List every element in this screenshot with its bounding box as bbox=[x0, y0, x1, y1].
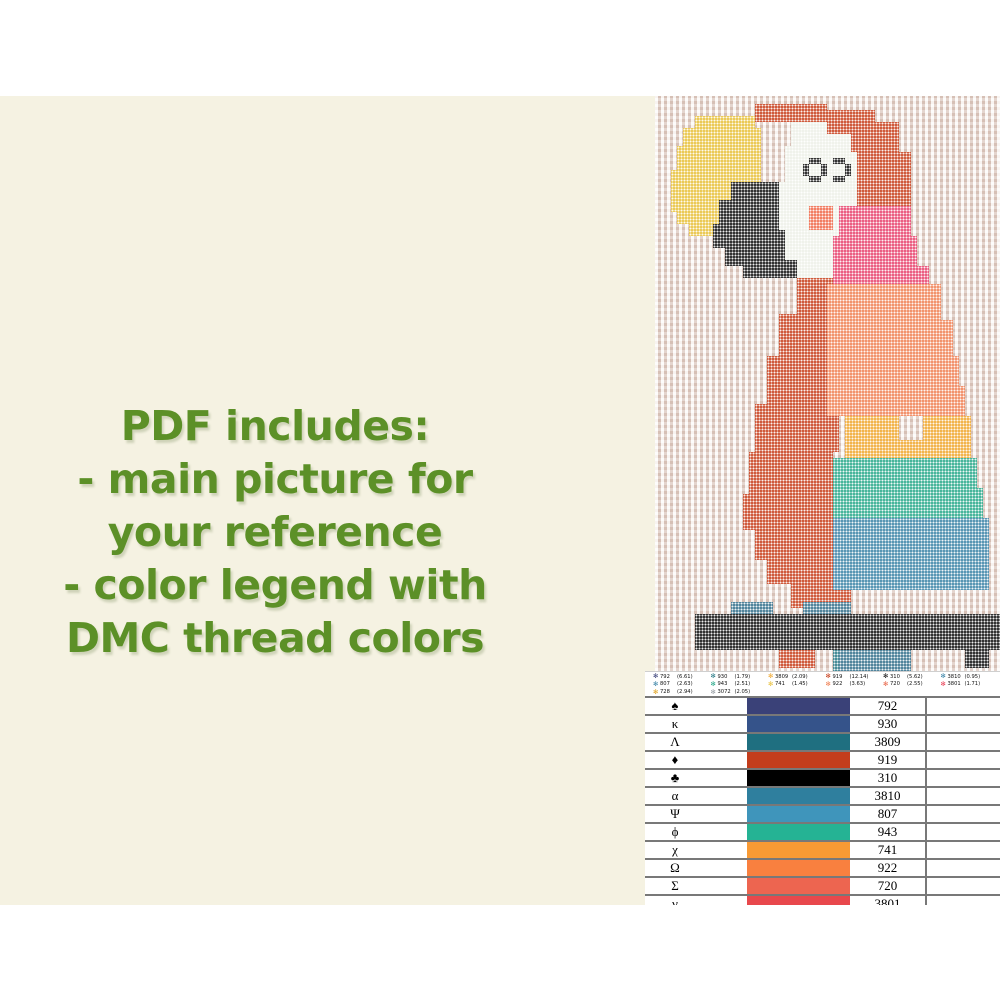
row-spacer bbox=[705, 769, 747, 787]
row-overflow-cell bbox=[928, 697, 1000, 715]
table-row: α3810 bbox=[645, 787, 1000, 805]
row-color-swatch bbox=[747, 895, 850, 905]
stitch-block bbox=[863, 650, 911, 671]
legend-summary-entry: ✻3801(1.71) bbox=[941, 681, 991, 689]
legend-summary-group: ✻792(6.61)✻807(2.63)✻728(2.94) bbox=[653, 673, 703, 696]
row-symbol: ♠ bbox=[645, 697, 705, 715]
row-color-swatch bbox=[747, 715, 850, 733]
legend-summary-entry: ✻930(1.79) bbox=[711, 673, 761, 681]
row-overflow-cell bbox=[928, 823, 1000, 841]
row-color-swatch bbox=[747, 859, 850, 877]
stitch-block bbox=[845, 164, 851, 176]
legend-summary-entry: ✻720(2.55) bbox=[883, 681, 933, 689]
legend-summary-entry: ✻3809(2.09) bbox=[768, 673, 818, 681]
legend-summary-entry: ✻310(5.62) bbox=[883, 673, 933, 681]
promo-line-1: PDF includes: bbox=[40, 400, 510, 453]
stitch-block bbox=[851, 122, 899, 152]
row-overflow-cell bbox=[928, 769, 1000, 787]
table-row: ♠792 bbox=[645, 697, 1000, 715]
row-spacer bbox=[705, 697, 747, 715]
legend-symbol-icon: ✻ bbox=[653, 689, 660, 696]
legend-summary-entry: ✻3810(0.95) bbox=[941, 673, 991, 681]
row-symbol: κ bbox=[645, 715, 705, 733]
row-color-swatch bbox=[747, 841, 850, 859]
listing-page: PDF includes: - main picture for your re… bbox=[0, 0, 1000, 1000]
legend-summary-entry: ✻922(3.63) bbox=[826, 681, 876, 689]
row-overflow-cell bbox=[928, 895, 1000, 905]
row-overflow-cell bbox=[928, 859, 1000, 877]
row-symbol: ♣ bbox=[645, 769, 705, 787]
stitch-block bbox=[827, 284, 941, 320]
cross-stitch-preview-image bbox=[655, 96, 1000, 671]
stitch-block bbox=[833, 176, 845, 182]
branch-tip bbox=[965, 650, 989, 668]
row-spacer bbox=[705, 715, 747, 733]
legend-symbol-icon: ✻ bbox=[941, 681, 948, 688]
legend-percent: (2.09) bbox=[792, 674, 818, 681]
stitch-block bbox=[821, 164, 827, 176]
stitch-pixel-grid bbox=[655, 96, 1000, 671]
stitch-block bbox=[743, 494, 833, 530]
row-symbol: Ψ bbox=[645, 805, 705, 823]
stitch-block bbox=[755, 104, 827, 122]
legend-percent: (1.71) bbox=[965, 681, 991, 688]
legend-summary-entry: ✻919(12.14) bbox=[826, 673, 876, 681]
legend-dmc-code: 3072 bbox=[718, 689, 735, 696]
stitch-block bbox=[779, 650, 815, 668]
legend-symbol-icon: ✻ bbox=[768, 681, 775, 688]
row-dmc-code: 3809 bbox=[850, 733, 926, 751]
legend-percent: (6.61) bbox=[677, 674, 703, 681]
row-color-swatch bbox=[747, 787, 850, 805]
dmc-thread-color-table: ♠792κ930Λ3809♦919♣310α3810Ψ807ϕ943χ741Ω9… bbox=[645, 696, 1000, 905]
row-symbol: α bbox=[645, 787, 705, 805]
stitch-block bbox=[743, 266, 797, 278]
stitch-block bbox=[839, 206, 911, 236]
row-dmc-code: 3801 bbox=[850, 895, 926, 905]
row-symbol: γ bbox=[645, 895, 705, 905]
legend-percent: (12.14) bbox=[850, 674, 876, 681]
legend-percent: (0.95) bbox=[965, 674, 991, 681]
table-row: χ741 bbox=[645, 841, 1000, 859]
stitch-block bbox=[827, 320, 953, 356]
legend-dmc-code: 792 bbox=[660, 674, 677, 681]
legend-percent: (2.94) bbox=[677, 689, 703, 696]
table-row: γ3801 bbox=[645, 895, 1000, 905]
stitch-block bbox=[755, 530, 839, 560]
legend-dmc-code: 741 bbox=[775, 681, 792, 688]
row-dmc-code: 3810 bbox=[850, 787, 926, 805]
color-legend-panel: ✻792(6.61)✻807(2.63)✻728(2.94)✻930(1.79)… bbox=[645, 671, 1000, 905]
stitch-block bbox=[809, 176, 821, 182]
row-overflow-cell bbox=[928, 877, 1000, 895]
row-dmc-code: 922 bbox=[850, 859, 926, 877]
legend-percent: (1.79) bbox=[735, 674, 761, 681]
row-spacer bbox=[705, 841, 747, 859]
legend-summary-entry: ✻741(1.45) bbox=[768, 681, 818, 689]
row-overflow-cell bbox=[928, 787, 1000, 805]
legend-summary-group: ✻3809(2.09)✻741(1.45) bbox=[768, 673, 818, 689]
legend-dmc-code: 3809 bbox=[775, 674, 792, 681]
row-dmc-code: 919 bbox=[850, 751, 926, 769]
legend-dmc-code: 919 bbox=[833, 674, 850, 681]
stitch-block bbox=[833, 488, 983, 518]
row-dmc-code: 741 bbox=[850, 841, 926, 859]
legend-summary-group: ✻919(12.14)✻922(3.63) bbox=[826, 673, 876, 689]
stitch-block bbox=[833, 554, 989, 590]
legend-dmc-code: 728 bbox=[660, 689, 677, 696]
legend-dmc-code: 3810 bbox=[948, 674, 965, 681]
promo-text-block: PDF includes: - main picture for your re… bbox=[40, 400, 510, 665]
legend-percent: (2.55) bbox=[907, 681, 933, 688]
row-color-swatch bbox=[747, 769, 850, 787]
legend-dmc-code: 930 bbox=[718, 674, 735, 681]
stitch-block bbox=[809, 158, 821, 164]
row-dmc-code: 792 bbox=[850, 697, 926, 715]
legend-summary-group: ✻930(1.79)✻943(2.51)✻3072(2.05) bbox=[711, 673, 761, 696]
row-dmc-code: 807 bbox=[850, 805, 926, 823]
row-spacer bbox=[705, 805, 747, 823]
stitch-block bbox=[809, 206, 833, 230]
stitch-block bbox=[827, 386, 965, 416]
legend-percent: (3.63) bbox=[850, 681, 876, 688]
legend-summary-entry: ✻807(2.63) bbox=[653, 681, 703, 689]
table-row: Ω922 bbox=[645, 859, 1000, 877]
promo-line-5: DMC thread colors bbox=[40, 612, 510, 665]
legend-percent: (5.62) bbox=[907, 674, 933, 681]
legend-summary-entry: ✻728(2.94) bbox=[653, 689, 703, 697]
table-row: Σ720 bbox=[645, 877, 1000, 895]
row-spacer bbox=[705, 859, 747, 877]
legend-dmc-code: 943 bbox=[718, 681, 735, 688]
branch-perch bbox=[695, 614, 1000, 650]
row-overflow-cell bbox=[928, 733, 1000, 751]
row-symbol: Σ bbox=[645, 877, 705, 895]
promo-line-4: - color legend with bbox=[40, 559, 510, 612]
legend-percent: (2.63) bbox=[677, 681, 703, 688]
stitch-block bbox=[845, 416, 899, 440]
legend-dmc-code: 3801 bbox=[948, 681, 965, 688]
legend-summary-entry: ✻792(6.61) bbox=[653, 673, 703, 681]
stitch-block bbox=[833, 266, 929, 284]
stitch-block bbox=[695, 116, 755, 128]
stitch-block bbox=[833, 518, 989, 554]
legend-symbol-icon: ✻ bbox=[883, 681, 890, 688]
legend-summary-group: ✻310(5.62)✻720(2.55) bbox=[883, 673, 933, 689]
row-color-swatch bbox=[747, 733, 850, 751]
stitch-block bbox=[833, 458, 977, 488]
row-symbol: χ bbox=[645, 841, 705, 859]
stitch-block bbox=[923, 416, 971, 440]
table-row: ♦919 bbox=[645, 751, 1000, 769]
row-symbol: Λ bbox=[645, 733, 705, 751]
legend-symbol-icon: ✻ bbox=[711, 689, 718, 696]
legend-percent: (2.51) bbox=[735, 681, 761, 688]
stitch-block bbox=[833, 158, 845, 164]
legend-dmc-code: 922 bbox=[833, 681, 850, 688]
row-color-swatch bbox=[747, 877, 850, 895]
row-spacer bbox=[705, 787, 747, 805]
stitch-block bbox=[827, 356, 959, 386]
row-symbol: Ω bbox=[645, 859, 705, 877]
row-dmc-code: 943 bbox=[850, 823, 926, 841]
table-row: Λ3809 bbox=[645, 733, 1000, 751]
row-spacer bbox=[705, 751, 747, 769]
row-overflow-cell bbox=[928, 841, 1000, 859]
legend-summary-header: ✻792(6.61)✻807(2.63)✻728(2.94)✻930(1.79)… bbox=[645, 672, 1000, 696]
table-row: ♣310 bbox=[645, 769, 1000, 787]
row-overflow-cell bbox=[928, 751, 1000, 769]
legend-summary-entry: ✻943(2.51) bbox=[711, 681, 761, 689]
row-color-swatch bbox=[747, 805, 850, 823]
legend-dmc-code: 310 bbox=[890, 674, 907, 681]
table-row: Ψ807 bbox=[645, 805, 1000, 823]
stitch-block bbox=[845, 440, 971, 458]
legend-symbol-icon: ✻ bbox=[711, 681, 718, 688]
row-dmc-code: 930 bbox=[850, 715, 926, 733]
row-spacer bbox=[705, 823, 747, 841]
stitch-block bbox=[857, 152, 911, 188]
table-row: ϕ943 bbox=[645, 823, 1000, 841]
row-overflow-cell bbox=[928, 715, 1000, 733]
legend-dmc-code: 807 bbox=[660, 681, 677, 688]
legend-percent: (2.05) bbox=[735, 689, 761, 696]
row-symbol: ♦ bbox=[645, 751, 705, 769]
row-spacer bbox=[705, 895, 747, 905]
stitch-block bbox=[677, 146, 761, 170]
stitch-block bbox=[803, 164, 809, 176]
legend-percent: (1.45) bbox=[792, 681, 818, 688]
legend-symbol-icon: ✻ bbox=[653, 681, 660, 688]
promo-line-3: your reference bbox=[40, 506, 510, 559]
legend-summary-entry: ✻3072(2.05) bbox=[711, 689, 761, 697]
stitch-block bbox=[749, 452, 833, 494]
stitch-block bbox=[833, 236, 917, 266]
stitch-block bbox=[839, 650, 869, 671]
stitch-block bbox=[683, 128, 761, 146]
row-dmc-code: 720 bbox=[850, 877, 926, 895]
row-spacer bbox=[705, 877, 747, 895]
legend-symbol-icon: ✻ bbox=[826, 681, 833, 688]
row-spacer bbox=[705, 733, 747, 751]
row-symbol: ϕ bbox=[645, 823, 705, 841]
row-color-swatch bbox=[747, 697, 850, 715]
legend-summary-group: ✻3810(0.95)✻3801(1.71) bbox=[941, 673, 991, 689]
row-dmc-code: 310 bbox=[850, 769, 926, 787]
row-color-swatch bbox=[747, 823, 850, 841]
table-row: κ930 bbox=[645, 715, 1000, 733]
promo-line-2: - main picture for bbox=[40, 453, 510, 506]
row-overflow-cell bbox=[928, 805, 1000, 823]
row-color-swatch bbox=[747, 751, 850, 769]
legend-dmc-code: 720 bbox=[890, 681, 907, 688]
